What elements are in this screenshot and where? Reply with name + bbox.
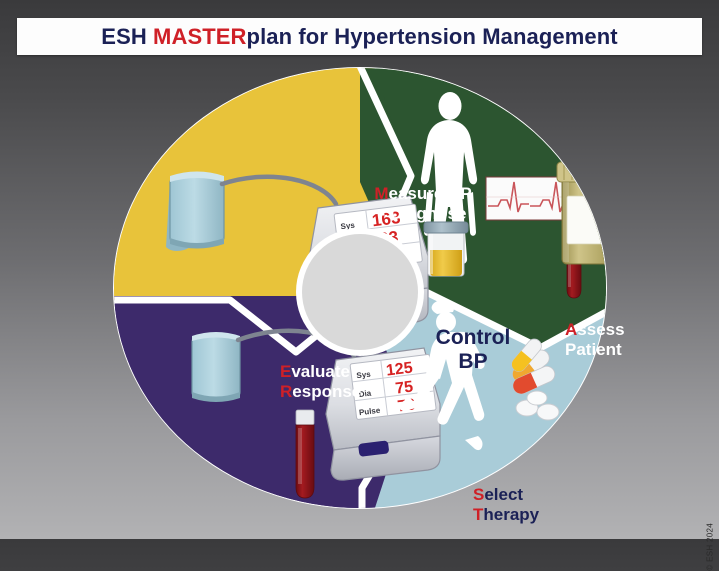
svg-text:Sys: Sys <box>356 370 372 381</box>
title-part-master: MASTER <box>153 24 247 49</box>
pill-bottle-label <box>567 196 610 244</box>
svg-text:Dia: Dia <box>358 389 372 400</box>
page-title: ESH MASTERplan for Hypertension Manageme… <box>101 24 617 50</box>
hypertension-cycle-wheel: Sys Dia Pulse 163 93 88 <box>110 64 610 512</box>
svg-text:75: 75 <box>394 379 414 398</box>
bp-cuff-icon-purple <box>192 332 240 402</box>
bp-monitor-icon-bottom: Sys Dia Pulse 125 75 76 <box>326 348 440 480</box>
urine-sample-icon <box>424 222 468 276</box>
center-hub <box>302 234 418 350</box>
blood-tube-icon-purple <box>296 410 314 498</box>
title-part-rest: plan for Hypertension Management <box>247 24 618 49</box>
title-bar: ESH MASTERplan for Hypertension Manageme… <box>17 18 702 55</box>
bp-cuff-icon <box>166 172 224 252</box>
title-part-esh: ESH <box>101 24 153 49</box>
slide-canvas: ESH MASTERplan for Hypertension Manageme… <box>0 0 719 539</box>
copyright-notice: © ESH 2024 <box>706 523 715 571</box>
svg-text:125: 125 <box>385 359 414 379</box>
